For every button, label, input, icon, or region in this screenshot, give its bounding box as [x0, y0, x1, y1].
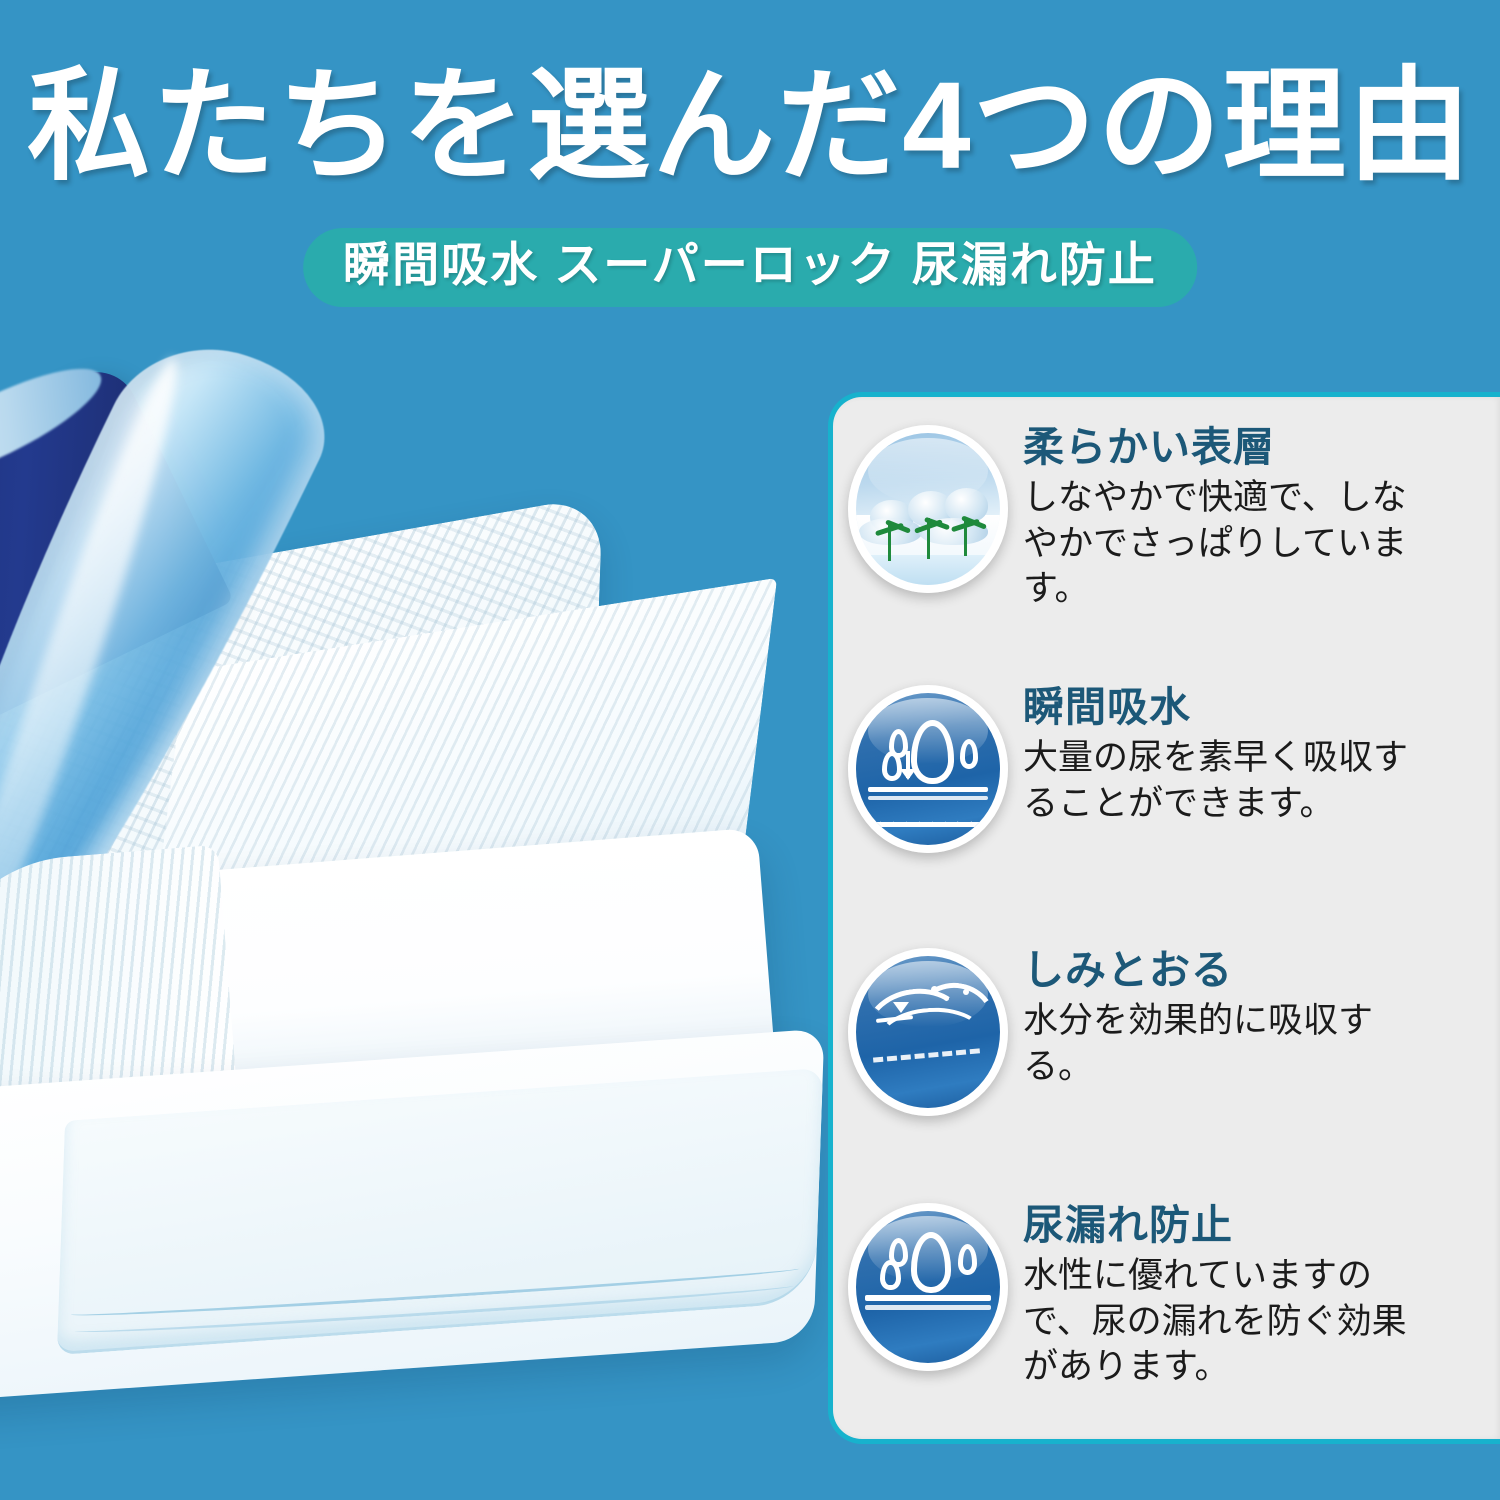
feature-icon-wrap	[833, 942, 1023, 1116]
feature-desc: 水分を効果的に吸収する。	[1023, 998, 1433, 1089]
infographic-root: 私たちを選んだ4つの理由 瞬間吸水 スーパーロック 尿漏れ防止	[0, 0, 1500, 1500]
feature-title: 瞬間吸水	[1023, 683, 1433, 731]
feature-desc: 大量の尿を素早く吸収することができます。	[1023, 735, 1433, 826]
feature-desc: 水性に優れていますので、尿の漏れを防ぐ効果があります。	[1023, 1253, 1433, 1390]
subtitle-pill: 瞬間吸水 スーパーロック 尿漏れ防止	[303, 228, 1197, 307]
water-drops-barrier-icon	[848, 1203, 1008, 1371]
feature-item: 尿漏れ防止 水性に優れていますので、尿の漏れを防ぐ効果があります。	[833, 1197, 1500, 1390]
feature-icon-wrap	[833, 1197, 1023, 1390]
feature-panel: 柔らかい表層 しなやかで快適で、しなやかでさっぱりしています。	[828, 392, 1500, 1444]
feature-text: 尿漏れ防止 水性に優れていますので、尿の漏れを防ぐ効果があります。	[1023, 1197, 1451, 1390]
feature-item: しみとおる 水分を効果的に吸収する。	[833, 942, 1500, 1116]
water-splash-wave-icon	[848, 948, 1008, 1116]
feature-item: 柔らかい表層 しなやかで快適で、しなやかでさっぱりしています。	[833, 419, 1500, 612]
product-photo	[0, 300, 860, 1500]
cotton-plants-icon	[848, 425, 1008, 593]
feature-icon-wrap	[833, 679, 1023, 853]
feature-text: しみとおる 水分を効果的に吸収する。	[1023, 942, 1451, 1116]
feature-desc: しなやかで快適で、しなやかでさっぱりしています。	[1023, 475, 1433, 612]
feature-text: 瞬間吸水 大量の尿を素早く吸収することができます。	[1023, 679, 1451, 853]
feature-icon-wrap	[833, 419, 1023, 612]
feature-title: しみとおる	[1023, 946, 1433, 994]
page-title: 私たちを選んだ4つの理由	[0, 62, 1500, 191]
feature-title: 柔らかい表層	[1023, 423, 1433, 471]
feature-text: 柔らかい表層 しなやかで快適で、しなやかでさっぱりしています。	[1023, 419, 1451, 612]
feature-item: 瞬間吸水 大量の尿を素早く吸収することができます。	[833, 679, 1500, 853]
feature-title: 尿漏れ防止	[1023, 1201, 1433, 1249]
header: 私たちを選んだ4つの理由 瞬間吸水 スーパーロック 尿漏れ防止	[0, 0, 1500, 330]
water-drops-absorb-layers-icon	[848, 685, 1008, 853]
